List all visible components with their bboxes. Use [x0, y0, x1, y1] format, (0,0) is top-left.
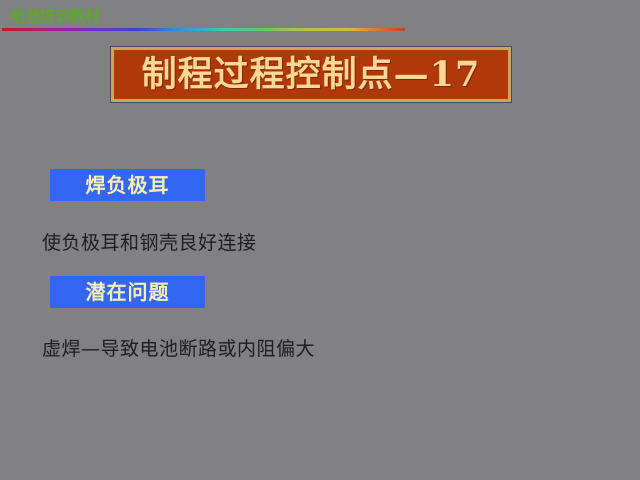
section-body-text-2: 虚焊—导致电池断路或内阻偏大 [42, 337, 315, 361]
slide-canvas: 电池培训教材 制程过程控制点—17 焊负极耳 使负极耳和钢壳良好连接 潜在问题 … [0, 0, 640, 480]
section-heading-label-1: 焊负极耳 [86, 174, 170, 196]
section-heading-label-2: 潜在问题 [86, 281, 170, 303]
rainbow-divider-rule [2, 28, 405, 31]
page-title: 制程过程控制点—17 [142, 57, 481, 93]
slide-title-plaque: 制程过程控制点—17 [111, 47, 511, 102]
slide-header-label: 电池培训教材 [10, 7, 100, 25]
section-heading-box-1: 焊负极耳 [50, 169, 205, 201]
section-heading-box-2: 潜在问题 [50, 276, 205, 308]
section-body-text-1: 使负极耳和钢壳良好连接 [42, 231, 257, 255]
